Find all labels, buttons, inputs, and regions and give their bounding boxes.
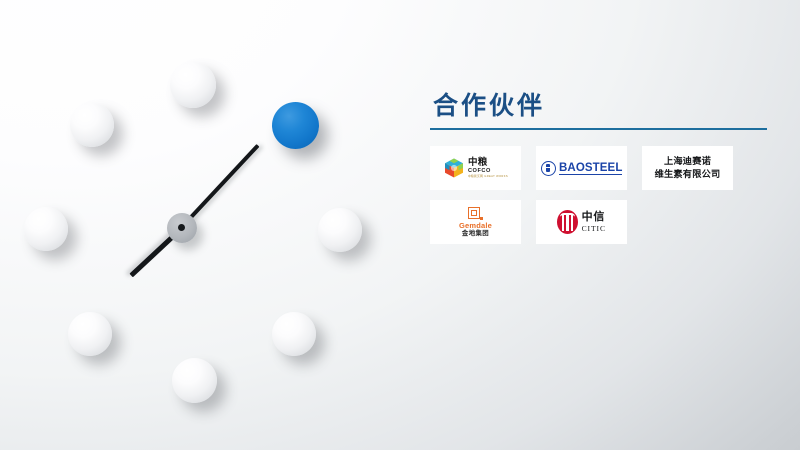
- title-underline-rule: [430, 128, 767, 130]
- baosteel-emblem-icon: [541, 161, 556, 176]
- cofco-cube-icon: [443, 157, 465, 179]
- citic-emblem-icon: [557, 210, 578, 234]
- clock-marker-1-accent: [272, 102, 319, 149]
- partner-card-citic[interactable]: 中信 CITIC: [536, 200, 627, 244]
- partner-card-disano[interactable]: 上海迪赛诺 维生素有限公司: [642, 146, 733, 190]
- gemdale-name-en: Gemdale: [459, 222, 492, 230]
- clock-center-pin: [178, 224, 185, 231]
- slide-canvas: 合作伙伴: [0, 0, 800, 450]
- wall-clock-illustration: [0, 0, 400, 450]
- citic-name-cn: 中信: [582, 212, 606, 223]
- partner-card-cofco[interactable]: 中粮 COFCO 中粮我买网 GREAT WORKS: [430, 146, 521, 190]
- clock-marker-12: [170, 62, 216, 108]
- clock-marker-10: [70, 103, 114, 147]
- cofco-name-en: COFCO: [468, 169, 508, 175]
- citic-name-en: CITIC: [582, 225, 606, 233]
- clock-marker-4: [272, 312, 316, 356]
- disano-name-line2: 维生素有限公司: [655, 168, 721, 181]
- clock-marker-3: [318, 208, 362, 252]
- partners-panel: 合作伙伴: [430, 94, 775, 304]
- partner-logo-grid: 中粮 COFCO 中粮我买网 GREAT WORKS BAOSTEEL 上海迪赛…: [430, 146, 775, 244]
- disano-name-line1: 上海迪赛诺: [655, 155, 721, 168]
- gemdale-square-icon: [468, 207, 483, 221]
- clock-marker-9: [24, 207, 68, 251]
- partner-card-gemdale[interactable]: Gemdale 金地集团: [430, 200, 521, 244]
- partner-card-baosteel[interactable]: BAOSTEEL: [536, 146, 627, 190]
- gemdale-name-cn: 金地集团: [462, 231, 489, 237]
- page-title: 合作伙伴: [430, 94, 775, 119]
- baosteel-name-en: BAOSTEEL: [559, 162, 622, 176]
- clock-marker-6: [172, 358, 217, 403]
- cofco-name-cn: 中粮: [468, 158, 508, 168]
- clock-marker-7: [68, 312, 112, 356]
- cofco-tagline: 中粮我买网 GREAT WORKS: [468, 176, 508, 179]
